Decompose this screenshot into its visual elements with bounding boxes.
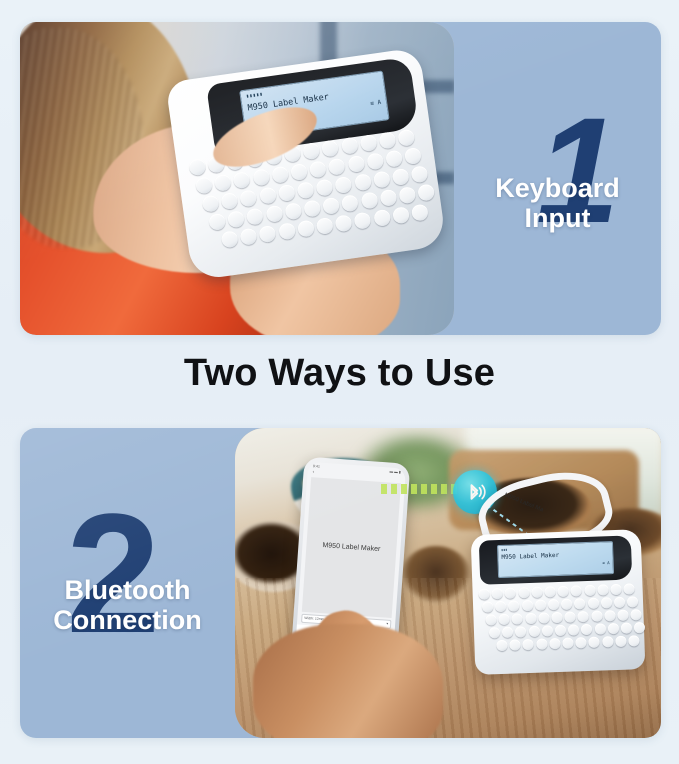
keypad-key xyxy=(525,613,536,624)
keypad-key xyxy=(508,600,519,611)
keypad-key xyxy=(373,209,391,227)
keypad-key xyxy=(214,174,232,192)
keypad-key xyxy=(347,155,365,173)
keypad-key xyxy=(366,152,384,170)
keypad-key xyxy=(542,625,553,636)
keypad-key xyxy=(496,640,507,651)
keypad-key xyxy=(535,599,546,610)
keypad-key xyxy=(284,202,302,220)
keypad-key xyxy=(404,147,422,165)
step-label-1-line2: Input xyxy=(454,204,661,234)
keypad-key xyxy=(565,611,576,622)
label-maker-device-top: ▮▮▮▮▮ M950 Label Maker ≡ A xyxy=(165,47,446,281)
chevron-down-icon: ▾ xyxy=(386,622,388,626)
keypad-key xyxy=(322,197,340,215)
keypad-key xyxy=(621,622,632,633)
keypad-key xyxy=(302,142,320,160)
keypad-key xyxy=(575,637,586,648)
keypad-key xyxy=(555,625,566,636)
panel-keyboard-input: ▮▮▮▮▮ M950 Label Maker ≡ A 1 Keyboard In… xyxy=(20,22,661,335)
keypad-key xyxy=(297,181,315,199)
keypad-key xyxy=(594,623,605,634)
keypad-key xyxy=(551,612,562,623)
device-keypad xyxy=(478,583,639,670)
photo-bluetooth-connection: 9:41 ▬ ▬ ▮ ‹ M950 Label Maker Width: 12m… xyxy=(235,428,661,738)
keypad-key xyxy=(597,584,608,595)
keypad-key xyxy=(610,584,621,595)
keypad-key xyxy=(297,220,315,238)
keypad-key xyxy=(531,587,542,598)
keypad-key xyxy=(202,195,220,213)
keypad-key xyxy=(518,587,529,598)
keypad-key xyxy=(359,134,377,152)
keypad-key xyxy=(309,160,327,178)
keypad-key xyxy=(392,168,410,186)
keypad-key xyxy=(341,194,359,212)
keypad-key xyxy=(321,139,339,157)
keypad-key xyxy=(627,596,638,607)
keypad-key xyxy=(515,626,526,637)
keypad-key xyxy=(492,588,503,599)
keypad-key xyxy=(489,627,500,638)
keypad-key xyxy=(571,585,582,596)
keypad-key xyxy=(512,613,523,624)
keypad-key xyxy=(482,601,493,612)
keypad-key xyxy=(601,597,612,608)
keypad-key xyxy=(549,638,560,649)
keypad-key xyxy=(278,222,296,240)
keypad-key xyxy=(584,585,595,596)
keypad-key xyxy=(538,612,549,623)
keypad-key xyxy=(221,230,239,248)
keypad-key xyxy=(335,176,353,194)
keypad-key xyxy=(328,158,346,176)
keypad-key xyxy=(581,624,592,635)
keypad-key xyxy=(591,610,602,621)
keypad-key xyxy=(522,600,533,611)
photo-keyboard-input: ▮▮▮▮▮ M950 Label Maker ≡ A xyxy=(20,22,454,335)
keypad-key xyxy=(265,205,283,223)
page-title: Two Ways to Use xyxy=(0,352,679,395)
keypad-key xyxy=(608,623,619,634)
step-label-2-line2: Connection xyxy=(20,606,235,636)
keypad-key xyxy=(589,637,600,648)
device-lcd-screen: ▮▮▮ M950 Label Maker ≡ A xyxy=(497,541,614,578)
keypad-key xyxy=(240,189,258,207)
keypad-key xyxy=(505,587,516,598)
keypad-key xyxy=(561,599,572,610)
label-preview-text: M950 Label Maker xyxy=(322,542,380,553)
keypad-key xyxy=(252,168,270,186)
infographic-stage: ▮▮▮▮▮ M950 Label Maker ≡ A 1 Keyboard In… xyxy=(0,0,679,764)
keypad-key xyxy=(617,610,628,621)
keypad-key xyxy=(233,171,251,189)
panel-1-text-area: 1 Keyboard Input xyxy=(454,22,661,335)
keypad-key xyxy=(485,614,496,625)
keypad-key xyxy=(624,583,635,594)
keypad-key xyxy=(411,204,429,222)
keypad-key xyxy=(271,166,289,184)
keypad-key xyxy=(385,150,403,168)
keypad-key xyxy=(398,186,416,204)
keypad-key xyxy=(335,214,353,232)
keypad-key xyxy=(316,179,334,197)
step-label-1-line1: Keyboard xyxy=(454,174,661,204)
keypad-key xyxy=(502,627,513,638)
connection-dots xyxy=(381,484,459,494)
keypad-key xyxy=(628,635,639,646)
keypad-key xyxy=(278,184,296,202)
keypad-key xyxy=(221,192,239,210)
keypad-key xyxy=(208,213,226,231)
keypad-key xyxy=(558,586,569,597)
keypad-key xyxy=(615,636,626,647)
keypad-key xyxy=(259,225,277,243)
keypad-key xyxy=(397,129,415,147)
keypad-key xyxy=(562,637,573,648)
keypad-key xyxy=(360,192,378,210)
keypad-key xyxy=(523,639,534,650)
label-preview-canvas[interactable]: M950 Label Maker xyxy=(302,477,401,618)
keypad-key xyxy=(188,158,206,176)
step-label-2: Bluetooth Connection xyxy=(20,576,235,635)
keypad-key xyxy=(246,208,264,226)
keypad-key xyxy=(373,171,391,189)
keypad-key xyxy=(587,598,598,609)
keypad-key xyxy=(240,228,258,246)
keypad-key xyxy=(227,210,245,228)
keypad-key xyxy=(614,597,625,608)
label-maker-device-bottom: ▮▮▮ M950 Label Maker ≡ A xyxy=(471,529,646,675)
keypad-key xyxy=(303,200,321,218)
keypad-key xyxy=(354,212,372,230)
keypad-key xyxy=(544,586,555,597)
step-label-2-line1: Bluetooth xyxy=(20,576,235,606)
keypad-key xyxy=(478,588,489,599)
keypad-key xyxy=(568,624,579,635)
keypad-key xyxy=(378,131,396,149)
keypad-key xyxy=(495,601,506,612)
keypad-key xyxy=(528,626,539,637)
keypad-key xyxy=(411,165,429,183)
keypad-key xyxy=(290,163,308,181)
keypad-key xyxy=(354,173,372,191)
keypad-key xyxy=(574,598,585,609)
keypad-key xyxy=(548,599,559,610)
hand-holding-phone xyxy=(253,624,443,738)
keypad-key xyxy=(340,137,358,155)
keypad-key xyxy=(604,610,615,621)
keypad-key xyxy=(392,206,410,224)
keypad-key xyxy=(509,639,520,650)
keypad-key xyxy=(536,638,547,649)
lcd-footer-line: ≡ A xyxy=(502,560,610,569)
keypad-key xyxy=(499,614,510,625)
panel-2-text-area: 2 Bluetooth Connection xyxy=(20,428,235,738)
keypad-key xyxy=(379,189,397,207)
keypad-key xyxy=(602,636,613,647)
keypad-key xyxy=(578,611,589,622)
panel-bluetooth-connection: 2 Bluetooth Connection 9:41 xyxy=(20,428,661,738)
keypad-key xyxy=(316,217,334,235)
keypad-key xyxy=(195,176,213,194)
step-label-1: Keyboard Input xyxy=(454,174,661,233)
keypad-key xyxy=(259,187,277,205)
